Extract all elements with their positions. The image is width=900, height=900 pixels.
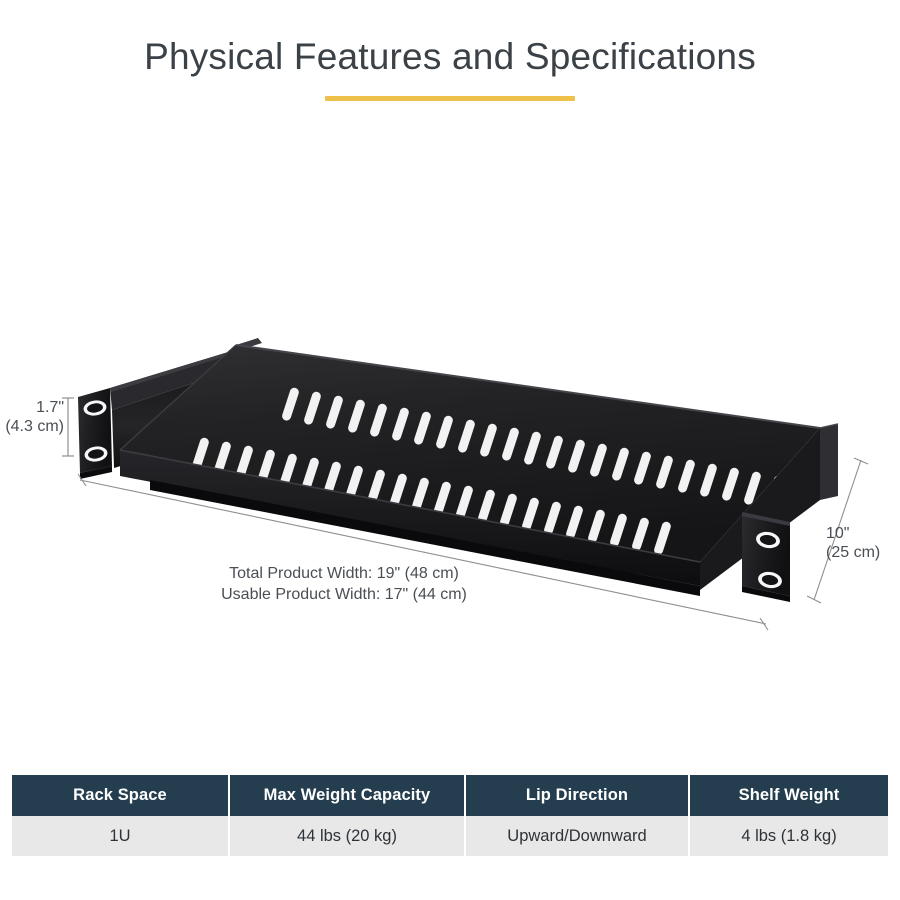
cell-rack-space: 1U — [12, 816, 230, 856]
height-dimension-label: 1.7" (4.3 cm) — [2, 398, 64, 436]
column-header-max-weight-capacity: Max Weight Capacity — [230, 775, 466, 816]
column-header-lip-direction: Lip Direction — [466, 775, 690, 816]
cell-shelf-weight: 4 lbs (1.8 kg) — [690, 816, 888, 856]
title-underline-accent — [325, 96, 575, 101]
depth-dimension-imperial: 10" — [826, 524, 880, 543]
page-title: Physical Features and Specifications — [0, 36, 900, 78]
total-product-width-label: Total Product Width: 19" (48 cm) — [0, 563, 688, 584]
height-dimension-imperial: 1.7" — [2, 398, 64, 417]
left-mounting-bracket — [78, 388, 112, 479]
usable-product-width-label: Usable Product Width: 17" (44 cm) — [0, 584, 688, 605]
height-dimension-metric: (4.3 cm) — [2, 417, 64, 436]
column-header-shelf-weight: Shelf Weight — [690, 775, 888, 816]
depth-dimension-metric: (25 cm) — [826, 543, 880, 562]
specifications-table: Rack Space Max Weight Capacity Lip Direc… — [12, 775, 888, 856]
column-header-rack-space: Rack Space — [12, 775, 230, 816]
cell-lip-direction: Upward/Downward — [466, 816, 690, 856]
right-mounting-bracket — [742, 512, 790, 602]
product-illustration — [0, 300, 900, 660]
depth-dimension-label: 10" (25 cm) — [826, 524, 880, 562]
table-header-row: Rack Space Max Weight Capacity Lip Direc… — [12, 775, 888, 816]
product-spec-page: Physical Features and Specifications — [0, 0, 900, 900]
cell-max-weight-capacity: 44 lbs (20 kg) — [230, 816, 466, 856]
table-row: 1U 44 lbs (20 kg) Upward/Downward 4 lbs … — [12, 816, 888, 856]
width-dimension-label: Total Product Width: 19" (48 cm) Usable … — [0, 563, 688, 605]
